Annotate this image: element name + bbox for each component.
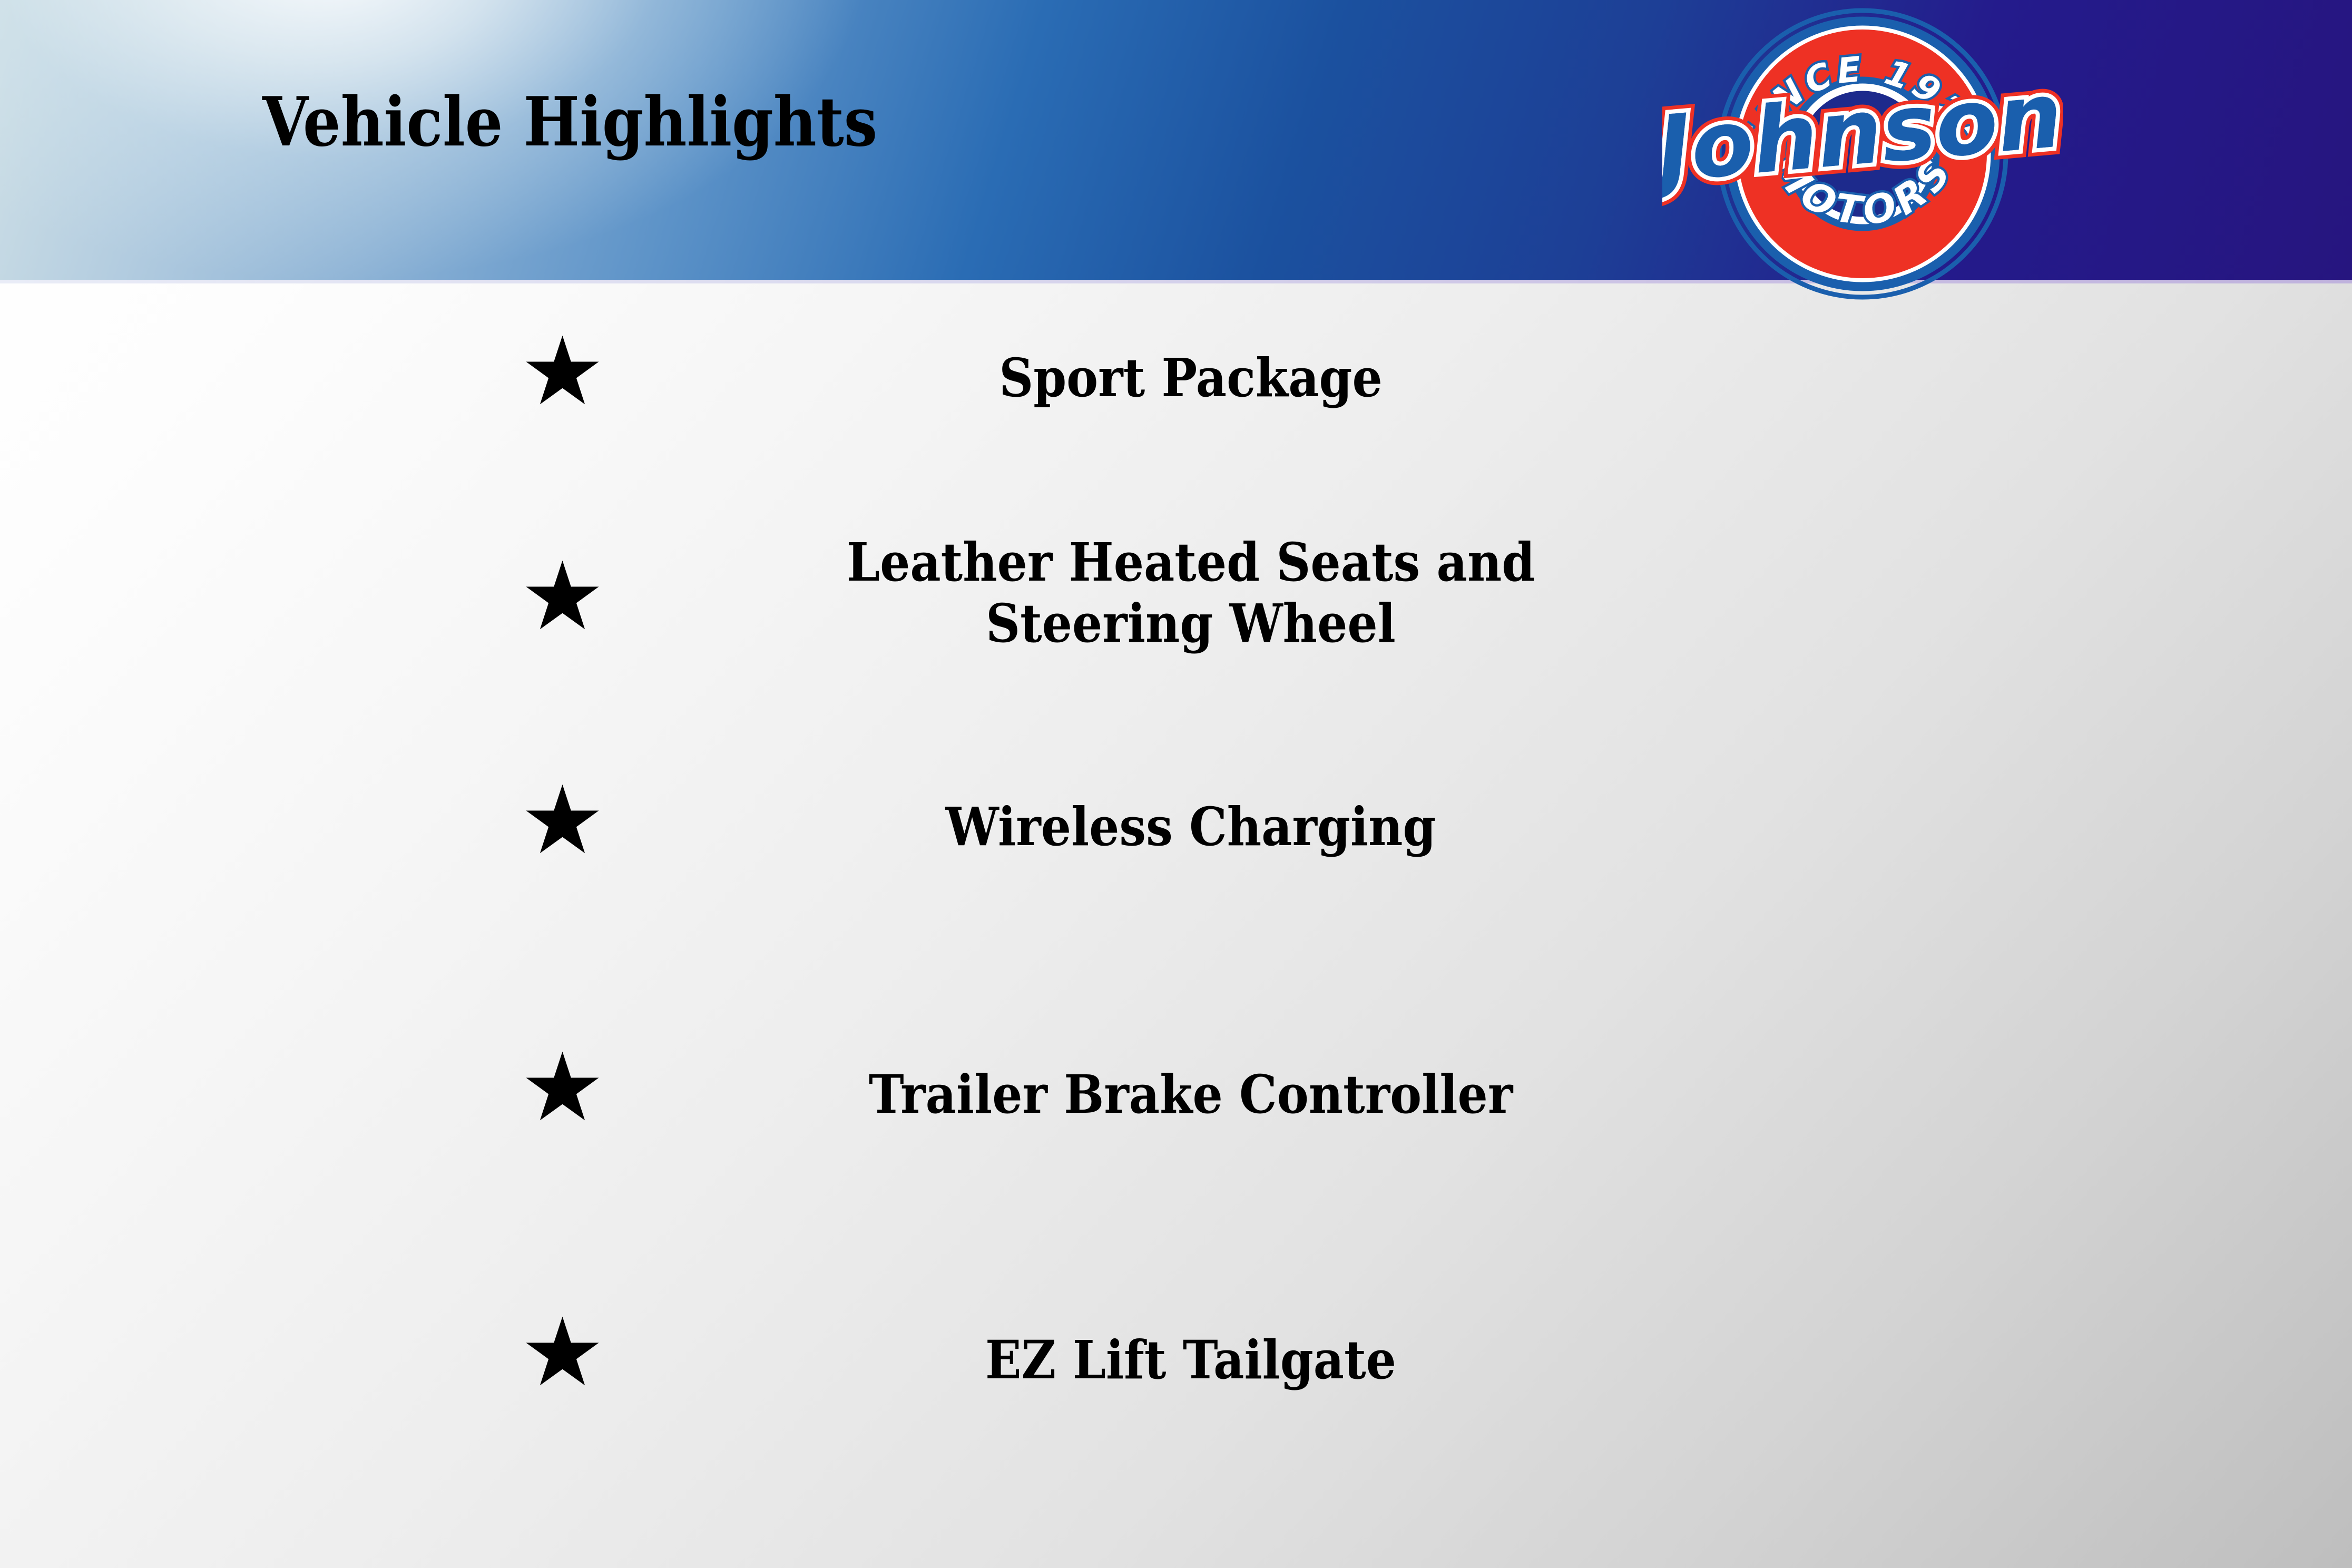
page-title: Vehicle Highlights: [262, 89, 877, 156]
star-icon: [524, 1050, 601, 1126]
star-icon: [524, 559, 601, 635]
slide-canvas: Vehicle Highlights SINCE 1925: [0, 0, 2352, 1568]
highlight-label: EZ Lift Tailgate: [797, 1329, 1584, 1390]
highlight-label: Leather Heated Seats and Steering Wheel: [797, 532, 1584, 654]
star-icon: [524, 783, 601, 859]
star-icon: [524, 1315, 601, 1391]
johnson-motors-logo: SINCE 1925 MOTORS Johnson Johnson Johnso…: [1662, 0, 2063, 301]
vehicle-highlights-list: Sport Package Leather Heated Seats and S…: [0, 280, 2352, 1568]
highlight-label: Wireless Charging: [797, 796, 1584, 857]
star-icon: [524, 334, 601, 410]
highlight-label: Trailer Brake Controller: [797, 1064, 1584, 1125]
highlight-label: Sport Package: [797, 347, 1584, 408]
